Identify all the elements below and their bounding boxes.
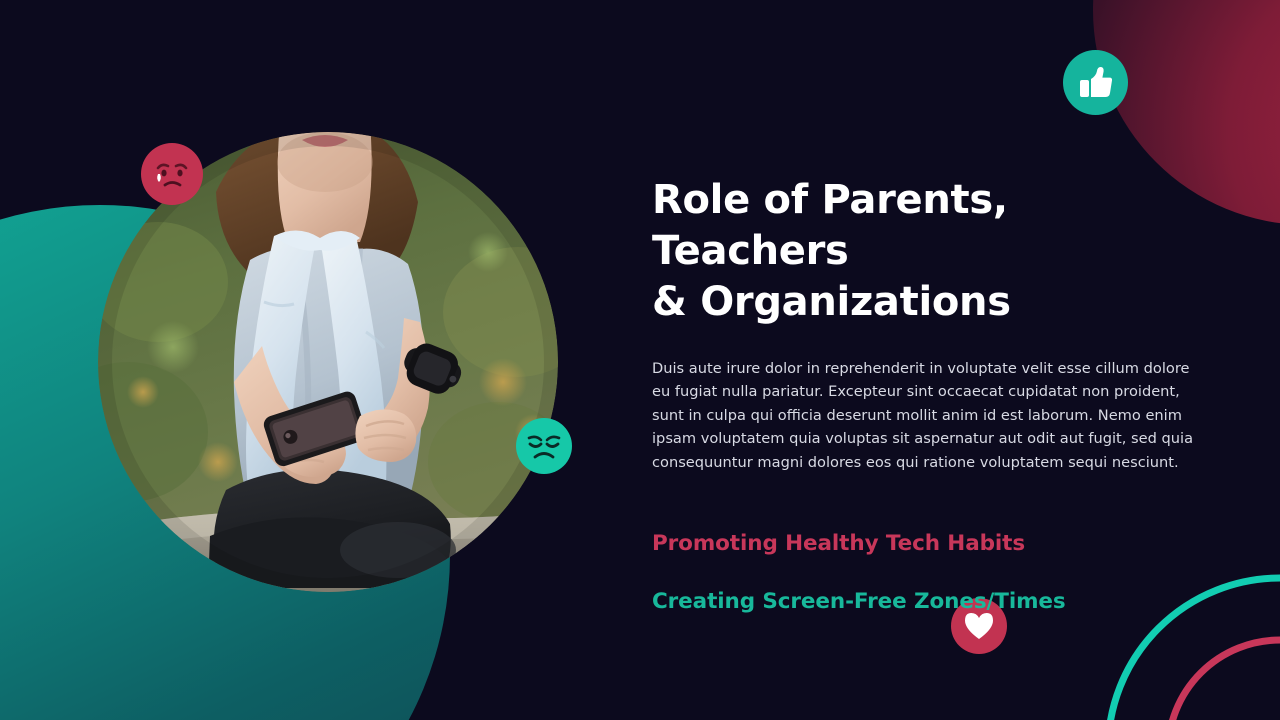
sad-face-icon (141, 143, 203, 205)
subheading-creating-screen-free-zones: Creating Screen-Free Zones/Times (652, 589, 1202, 614)
title-line-1: Role of Parents, Teachers (652, 177, 1008, 274)
body-paragraph: Duis aute irure dolor in reprehenderit i… (652, 357, 1202, 475)
page-title: Role of Parents, Teachers& Organizations (652, 175, 1202, 329)
subheading-promoting-healthy-tech-habits: Promoting Healthy Tech Habits (652, 531, 1202, 556)
slide: Role of Parents, Teachers& Organizations… (0, 0, 1280, 720)
thumbs-up-icon (1063, 50, 1128, 115)
weary-face-icon (516, 418, 572, 474)
text-content: Role of Parents, Teachers& Organizations… (652, 175, 1202, 614)
title-line-2: & Organizations (652, 279, 1011, 325)
